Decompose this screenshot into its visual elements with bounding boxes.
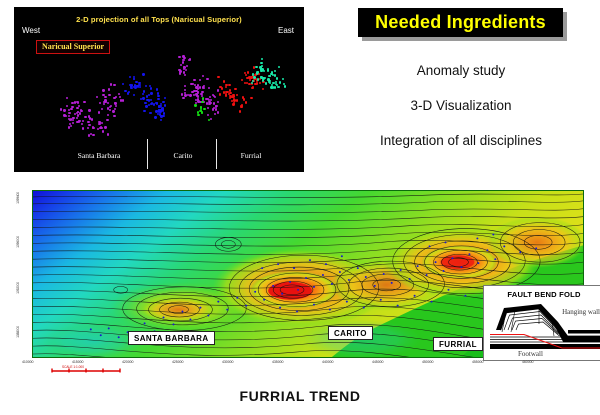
needed-ingredients-title-wrap: Needed Ingredients (358, 8, 563, 37)
fault-bend-fold-title: FAULT BEND FOLD (484, 290, 600, 299)
needed-ingredients-title: Needed Ingredients (358, 8, 563, 37)
scatter-point (225, 84, 227, 86)
scatter-point (88, 124, 90, 126)
scatter-point (133, 76, 135, 78)
scatter-point (194, 104, 196, 106)
scatter-point (184, 85, 186, 87)
scatter-point (228, 84, 230, 86)
scatter-point (245, 74, 247, 76)
scatter-point (207, 107, 209, 109)
scatter-point (265, 82, 267, 84)
scatter-point (189, 94, 191, 96)
scatter-point (251, 82, 253, 84)
scatter-point (97, 128, 99, 130)
scatter-point (193, 94, 195, 96)
scatter-point (112, 110, 114, 112)
scatter-point (203, 87, 205, 89)
scatter-point (144, 102, 146, 104)
scatter-point (162, 109, 164, 111)
scatter-point (122, 99, 124, 101)
scatter-point (150, 87, 152, 89)
scatter-point (155, 110, 157, 112)
scatter-point (203, 85, 205, 87)
scatter-point (88, 115, 90, 117)
scatter-point (214, 96, 216, 98)
map-y-tick-2: 1092000 (16, 282, 30, 294)
scatter-point (104, 126, 106, 128)
scatter-points-layer (14, 7, 304, 172)
scatter-point (248, 76, 250, 78)
scatter-point (199, 79, 201, 81)
scatter-point (182, 61, 184, 63)
scatter-point (261, 58, 263, 60)
scatter-point (178, 69, 180, 71)
scatter-point (109, 109, 111, 111)
map-x-tick-6: 440000 (322, 360, 333, 364)
map-tag-santa-barbara: SANTA BARBARA (128, 331, 215, 345)
ingredient-item-3d-visualization: 3-D Visualization (330, 98, 592, 113)
scatter-point (239, 110, 241, 112)
scatter-point (99, 102, 101, 104)
scatter-point (150, 92, 152, 94)
scatter-point (261, 68, 263, 70)
scatter-point (92, 134, 94, 136)
scatter-point (145, 105, 147, 107)
scatter-point (102, 89, 104, 91)
scatter-divider-1 (147, 139, 148, 169)
fault-bend-fold-inset: FAULT BEND FOLD (483, 285, 600, 361)
scatter-point (267, 68, 269, 70)
scatter-point (76, 117, 78, 119)
scatter-point (221, 87, 223, 89)
scatter-point (159, 110, 161, 112)
scatter-point (275, 81, 277, 83)
scatter-point (184, 94, 186, 96)
scatter-point (68, 126, 70, 128)
scatter-point (162, 115, 164, 117)
scatter-point (96, 96, 98, 98)
scatter-point (115, 105, 117, 107)
map-x-tick-3: 425000 (172, 360, 183, 364)
scatter-point (225, 86, 227, 88)
scatter-point (101, 108, 103, 110)
map-x-tick-4: 430000 (222, 360, 233, 364)
scatter-point (180, 64, 182, 66)
scatter-point (66, 97, 68, 99)
scatter-point (76, 107, 78, 109)
fault-hanging-wall-label: Hanging wall (562, 308, 600, 316)
scatter-point (113, 84, 115, 86)
map-x-tick-8: 450000 (422, 360, 433, 364)
scatter-point (129, 76, 131, 78)
scatter-point (201, 91, 203, 93)
ingredient-item-integration: Integration of all disciplines (330, 133, 592, 148)
scatter-point (186, 65, 188, 67)
scatter-point (131, 84, 133, 86)
scatter-point (82, 127, 84, 129)
scatter-field-label-furrial: Furrial (222, 151, 280, 160)
scatter-point (217, 111, 219, 113)
scatter-point (276, 77, 278, 79)
scatter-point (143, 110, 145, 112)
scatter-point (63, 109, 65, 111)
scatter-point (108, 88, 110, 90)
scatter-point (179, 72, 181, 74)
scatter-point (150, 99, 152, 101)
scatter-point (202, 75, 204, 77)
scatter-point (217, 76, 219, 78)
map-y-tick-3: 1088000 (16, 326, 30, 338)
needed-ingredients-panel: Needed Ingredients Anomaly study 3-D Vis… (330, 6, 592, 166)
scatter-point (84, 116, 86, 118)
scatter-point (145, 85, 147, 87)
scatter-point (139, 84, 141, 86)
map-x-tick-2: 420000 (122, 360, 133, 364)
scatter-point (142, 93, 144, 95)
scatter-point (155, 102, 157, 104)
scatter-point (63, 114, 65, 116)
scatter-point (208, 103, 210, 105)
scatter-point (110, 83, 112, 85)
scatter-point (189, 58, 191, 60)
scatter-point (229, 92, 231, 94)
scatter-point (127, 92, 129, 94)
scatter-point (223, 80, 225, 82)
scatter-point (198, 101, 200, 103)
scatter-point (107, 102, 109, 104)
scatter-point (201, 101, 203, 103)
scatter-point (249, 79, 251, 81)
structure-map-panel: SANTA BARBARA CARITO FURRIAL FAULT BEND … (16, 190, 586, 368)
scatter-point (200, 93, 202, 95)
scatter-point (156, 88, 158, 90)
scatter-point (283, 83, 285, 85)
scatter-point (164, 97, 166, 99)
scatter-point (160, 119, 162, 121)
scatter-point (215, 105, 217, 107)
scatter-point (133, 78, 135, 80)
scatter-point (282, 78, 284, 80)
scatter-point (107, 114, 109, 116)
scatter-point (113, 115, 115, 117)
scatter-point (262, 88, 264, 90)
scatter-point (206, 78, 208, 80)
scatter-point (214, 113, 216, 115)
scatter-point (279, 81, 281, 83)
scatter-point (195, 93, 197, 95)
scatter-field-label-santa-barbara: Santa Barbara (59, 151, 139, 160)
scatter-point (245, 101, 247, 103)
scatter-plot-panel: 2-D projection of all Tops (Naricual Sup… (14, 7, 304, 172)
scatter-point (217, 89, 219, 91)
scatter-point (118, 93, 120, 95)
scatter-point (142, 97, 144, 99)
map-y-tick-1: 1096000 (16, 236, 30, 248)
scatter-point (254, 83, 256, 85)
scatter-point (122, 83, 124, 85)
scatter-point (199, 86, 201, 88)
scatter-point (104, 96, 106, 98)
scatter-point (108, 94, 110, 96)
scatter-point (66, 105, 68, 107)
scatter-point (223, 91, 225, 93)
map-scalebar-label: SCALE 1:1.000 (62, 365, 84, 369)
scatter-point (119, 96, 121, 98)
map-x-tick-9: 455000 (472, 360, 483, 364)
scatter-point (70, 108, 72, 110)
scatter-point (257, 78, 259, 80)
map-x-tick-5: 435000 (272, 360, 283, 364)
scatter-point (191, 91, 193, 93)
scatter-point (241, 105, 243, 107)
scatter-point (197, 114, 199, 116)
scatter-point (256, 72, 258, 74)
fault-footwall-label: Footwall (518, 350, 543, 358)
scatter-point (106, 119, 108, 121)
scatter-point (146, 99, 148, 101)
scatter-point (217, 101, 219, 103)
scatter-point (154, 116, 156, 118)
scatter-point (102, 130, 104, 132)
map-x-tick-10: 460000 (522, 360, 533, 364)
scatter-point (130, 87, 132, 89)
scatter-point (262, 79, 264, 81)
scatter-point (88, 109, 90, 111)
scatter-point (181, 93, 183, 95)
scatter-point (219, 93, 221, 95)
scatter-point (68, 112, 70, 114)
scatter-point (164, 104, 166, 106)
scatter-point (185, 69, 187, 71)
map-caption: FURRIAL TREND (0, 388, 600, 404)
scatter-point (133, 94, 135, 96)
map-scalebar (50, 366, 122, 373)
scatter-point (201, 112, 203, 114)
scatter-point (162, 101, 164, 103)
scatter-point (241, 79, 243, 81)
scatter-point (81, 123, 83, 125)
map-x-tick-1: 415000 (72, 360, 83, 364)
scatter-point (139, 86, 141, 88)
scatter-point (184, 74, 186, 76)
map-x-tick-0: 410000 (22, 360, 33, 364)
scatter-point (197, 84, 199, 86)
scatter-point (103, 103, 105, 105)
scatter-point (264, 77, 266, 79)
scatter-point (193, 79, 195, 81)
scatter-point (274, 70, 276, 72)
scatter-point (60, 108, 62, 110)
ingredient-item-anomaly-study: Anomaly study (330, 63, 592, 78)
scatter-point (236, 99, 238, 101)
scatter-point (232, 103, 234, 105)
scatter-point (87, 127, 89, 129)
scatter-point (207, 114, 209, 116)
scatter-point (260, 62, 262, 64)
scatter-point (284, 85, 286, 87)
scatter-point (203, 108, 205, 110)
scatter-point (83, 101, 85, 103)
scatter-point (178, 56, 180, 58)
scatter-point (271, 71, 273, 73)
scatter-point (278, 66, 280, 68)
map-tag-furrial: FURRIAL (433, 337, 483, 351)
map-y-tick-0: 1099400 (16, 192, 30, 204)
scatter-point (236, 94, 238, 96)
scatter-point (250, 97, 252, 99)
scatter-point (278, 86, 280, 88)
scatter-divider-2 (216, 139, 217, 169)
scatter-point (255, 66, 257, 68)
scatter-field-label-carito: Carito (154, 151, 212, 160)
scatter-point (79, 112, 81, 114)
map-tag-carito: CARITO (328, 326, 373, 340)
scatter-point (78, 120, 80, 122)
map-x-tick-7: 445000 (372, 360, 383, 364)
scatter-point (208, 87, 210, 89)
scatter-point (98, 111, 100, 113)
scatter-point (92, 127, 94, 129)
scatter-point (72, 122, 74, 124)
scatter-point (146, 95, 148, 97)
scatter-point (229, 97, 231, 99)
scatter-point (182, 97, 184, 99)
scatter-point (247, 71, 249, 73)
scatter-point (157, 98, 159, 100)
scatter-point (234, 88, 236, 90)
scatter-point (142, 73, 144, 75)
scatter-point (270, 86, 272, 88)
scatter-point (91, 118, 93, 120)
scatter-point (209, 96, 211, 98)
scatter-point (107, 133, 109, 135)
scatter-point (259, 82, 261, 84)
scatter-point (253, 76, 255, 78)
